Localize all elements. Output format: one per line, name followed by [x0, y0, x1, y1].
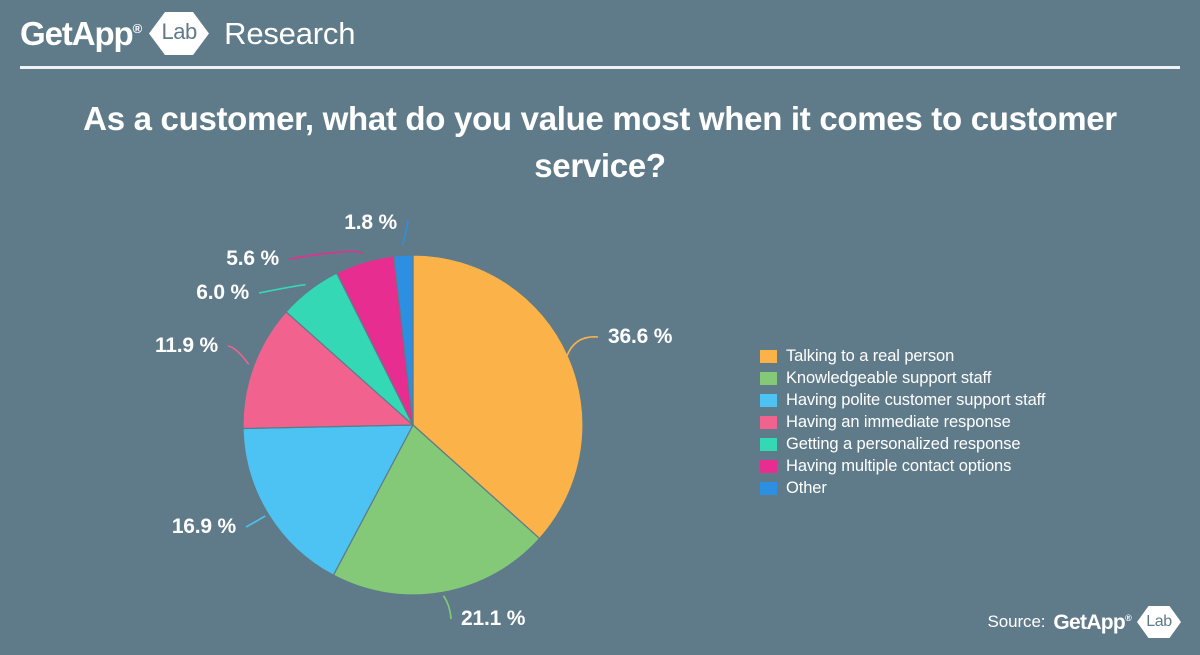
pie-value-label: 6.0 %: [196, 281, 249, 304]
legend-item[interactable]: Having polite customer support staff: [760, 389, 1160, 411]
pie-leader-line: [228, 346, 249, 364]
page-title: As a customer, what do you value most wh…: [60, 96, 1140, 190]
lab-badge-label: Lab: [162, 21, 197, 45]
chart-legend: Talking to a real personKnowledgeable su…: [760, 345, 1160, 499]
legend-color-swatch: [760, 394, 777, 407]
brand-wordmark: GetApp®: [20, 17, 142, 50]
pie-value-label: 36.6 %: [608, 325, 673, 348]
legend-item[interactable]: Having an immediate response: [760, 411, 1160, 433]
pie-value-label: 21.1 %: [461, 607, 526, 630]
legend-color-swatch: [760, 416, 777, 429]
legend-color-swatch: [760, 482, 777, 495]
pie-leader-line: [443, 596, 451, 619]
legend-item[interactable]: Having multiple contact options: [760, 455, 1160, 477]
pie-value-label: 1.8 %: [344, 211, 397, 234]
legend-item[interactable]: Talking to a real person: [760, 345, 1160, 367]
source-attribution: Source: GetApp® Lab: [988, 603, 1182, 641]
legend-label: Having multiple contact options: [786, 458, 1011, 475]
section-label: Research: [224, 18, 355, 49]
source-prefix-label: Source:: [988, 612, 1046, 632]
lab-hexagon-badge: Lab: [148, 11, 210, 56]
pie-leader-line: [246, 516, 265, 527]
source-brand-name-text: GetApp: [1053, 611, 1125, 634]
legend-label: Having an immediate response: [786, 414, 1011, 431]
legend-label: Other: [786, 480, 827, 497]
legend-label: Knowledgeable support staff: [786, 370, 991, 387]
legend-item[interactable]: Knowledgeable support staff: [760, 367, 1160, 389]
page-header: GetApp® Lab Research: [0, 0, 1200, 72]
pie-slices-group: [243, 255, 583, 595]
source-brand-wordmark: GetApp®: [1053, 612, 1131, 633]
registered-mark-icon: ®: [133, 21, 143, 36]
pie-value-label: 11.9 %: [155, 334, 219, 357]
pie-chart[interactable]: 36.6 %21.1 %16.9 %11.9 %6.0 %5.6 %1.8 %: [0, 185, 740, 645]
legend-color-swatch: [760, 460, 777, 473]
pie-leader-line: [403, 221, 408, 245]
legend-label: Talking to a real person: [786, 348, 954, 365]
source-lab-badge-label: Lab: [1146, 614, 1172, 631]
pie-chart-region: 36.6 %21.1 %16.9 %11.9 %6.0 %5.6 %1.8 %: [0, 185, 740, 645]
header-divider: [20, 66, 1180, 69]
legend-label: Getting a personalized response: [786, 436, 1020, 453]
brand-logo[interactable]: GetApp® Lab Research: [20, 8, 355, 58]
legend-color-swatch: [760, 350, 777, 363]
legend-label: Having polite customer support staff: [786, 392, 1045, 409]
legend-color-swatch: [760, 438, 777, 451]
legend-color-swatch: [760, 372, 777, 385]
pie-leader-line: [567, 337, 598, 357]
legend-item[interactable]: Other: [760, 477, 1160, 499]
pie-value-label: 5.6 %: [226, 247, 279, 270]
pie-leader-line: [259, 285, 305, 293]
source-lab-hexagon-badge: Lab: [1136, 605, 1182, 639]
brand-name-text: GetApp: [20, 15, 133, 52]
pie-value-label: 16.9 %: [172, 515, 237, 538]
source-registered-mark-icon: ®: [1125, 613, 1131, 623]
legend-item[interactable]: Getting a personalized response: [760, 433, 1160, 455]
pie-leader-line: [289, 251, 362, 259]
